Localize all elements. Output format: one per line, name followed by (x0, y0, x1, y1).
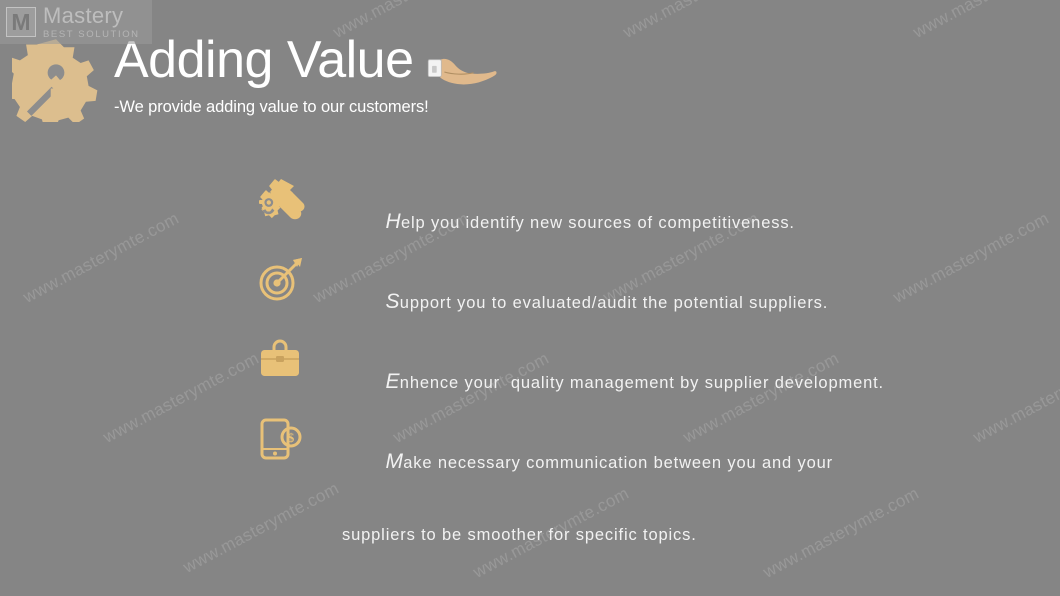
list-item: Enhence your quality management by suppl… (252, 336, 952, 416)
list-item-text: Support you to evaluated/audit the poten… (342, 256, 828, 339)
list-item-text: Enhence your quality management by suppl… (342, 336, 884, 419)
list-item-text: Make necessary communication between you… (342, 416, 833, 595)
text-rest: elp you identify new sources of competit… (401, 214, 795, 232)
bullet-list: Help you identify new sources of competi… (252, 176, 952, 496)
slide-canvas: M Mastery BEST SOLUTION Adding Value -We… (0, 0, 1060, 596)
list-item: Help you identify new sources of competi… (252, 176, 952, 256)
wrench-and-gear-icon (252, 176, 310, 222)
list-item: $ Make necessary communication between y… (252, 416, 952, 496)
list-item-text: Help you identify new sources of competi… (342, 176, 795, 259)
svg-text:$: $ (288, 430, 295, 445)
lead-letter: E (385, 370, 399, 393)
lead-letter: H (385, 210, 400, 233)
page-subtitle: -We provide adding value to our customer… (114, 98, 429, 117)
text-rest: upport you to evaluated/audit the potent… (400, 294, 828, 312)
lead-letter: M (385, 450, 403, 473)
gear-cog-icon (12, 34, 100, 122)
page-title: Adding Value (114, 34, 429, 86)
lead-letter: S (385, 290, 399, 313)
mobile-payment-icon: $ (252, 416, 310, 462)
title-block: Adding Value -We provide adding value to… (114, 34, 429, 117)
briefcase-icon (252, 336, 310, 382)
text-rest: nhence your quality management by suppli… (400, 374, 884, 392)
logo-tagline: BEST SOLUTION (43, 30, 140, 40)
target-with-arrow-icon (252, 256, 310, 302)
logo: M Mastery BEST SOLUTION (0, 0, 152, 44)
logo-text: Mastery BEST SOLUTION (43, 5, 140, 40)
list-item: Support you to evaluated/audit the poten… (252, 256, 952, 336)
text-line-2: suppliers to be smoother for specific to… (342, 523, 833, 547)
logo-name: Mastery (43, 5, 140, 27)
open-palm-hand-icon (420, 52, 498, 92)
text-rest: ake necessary communication between you … (403, 454, 833, 472)
logo-mark: M (6, 7, 36, 37)
